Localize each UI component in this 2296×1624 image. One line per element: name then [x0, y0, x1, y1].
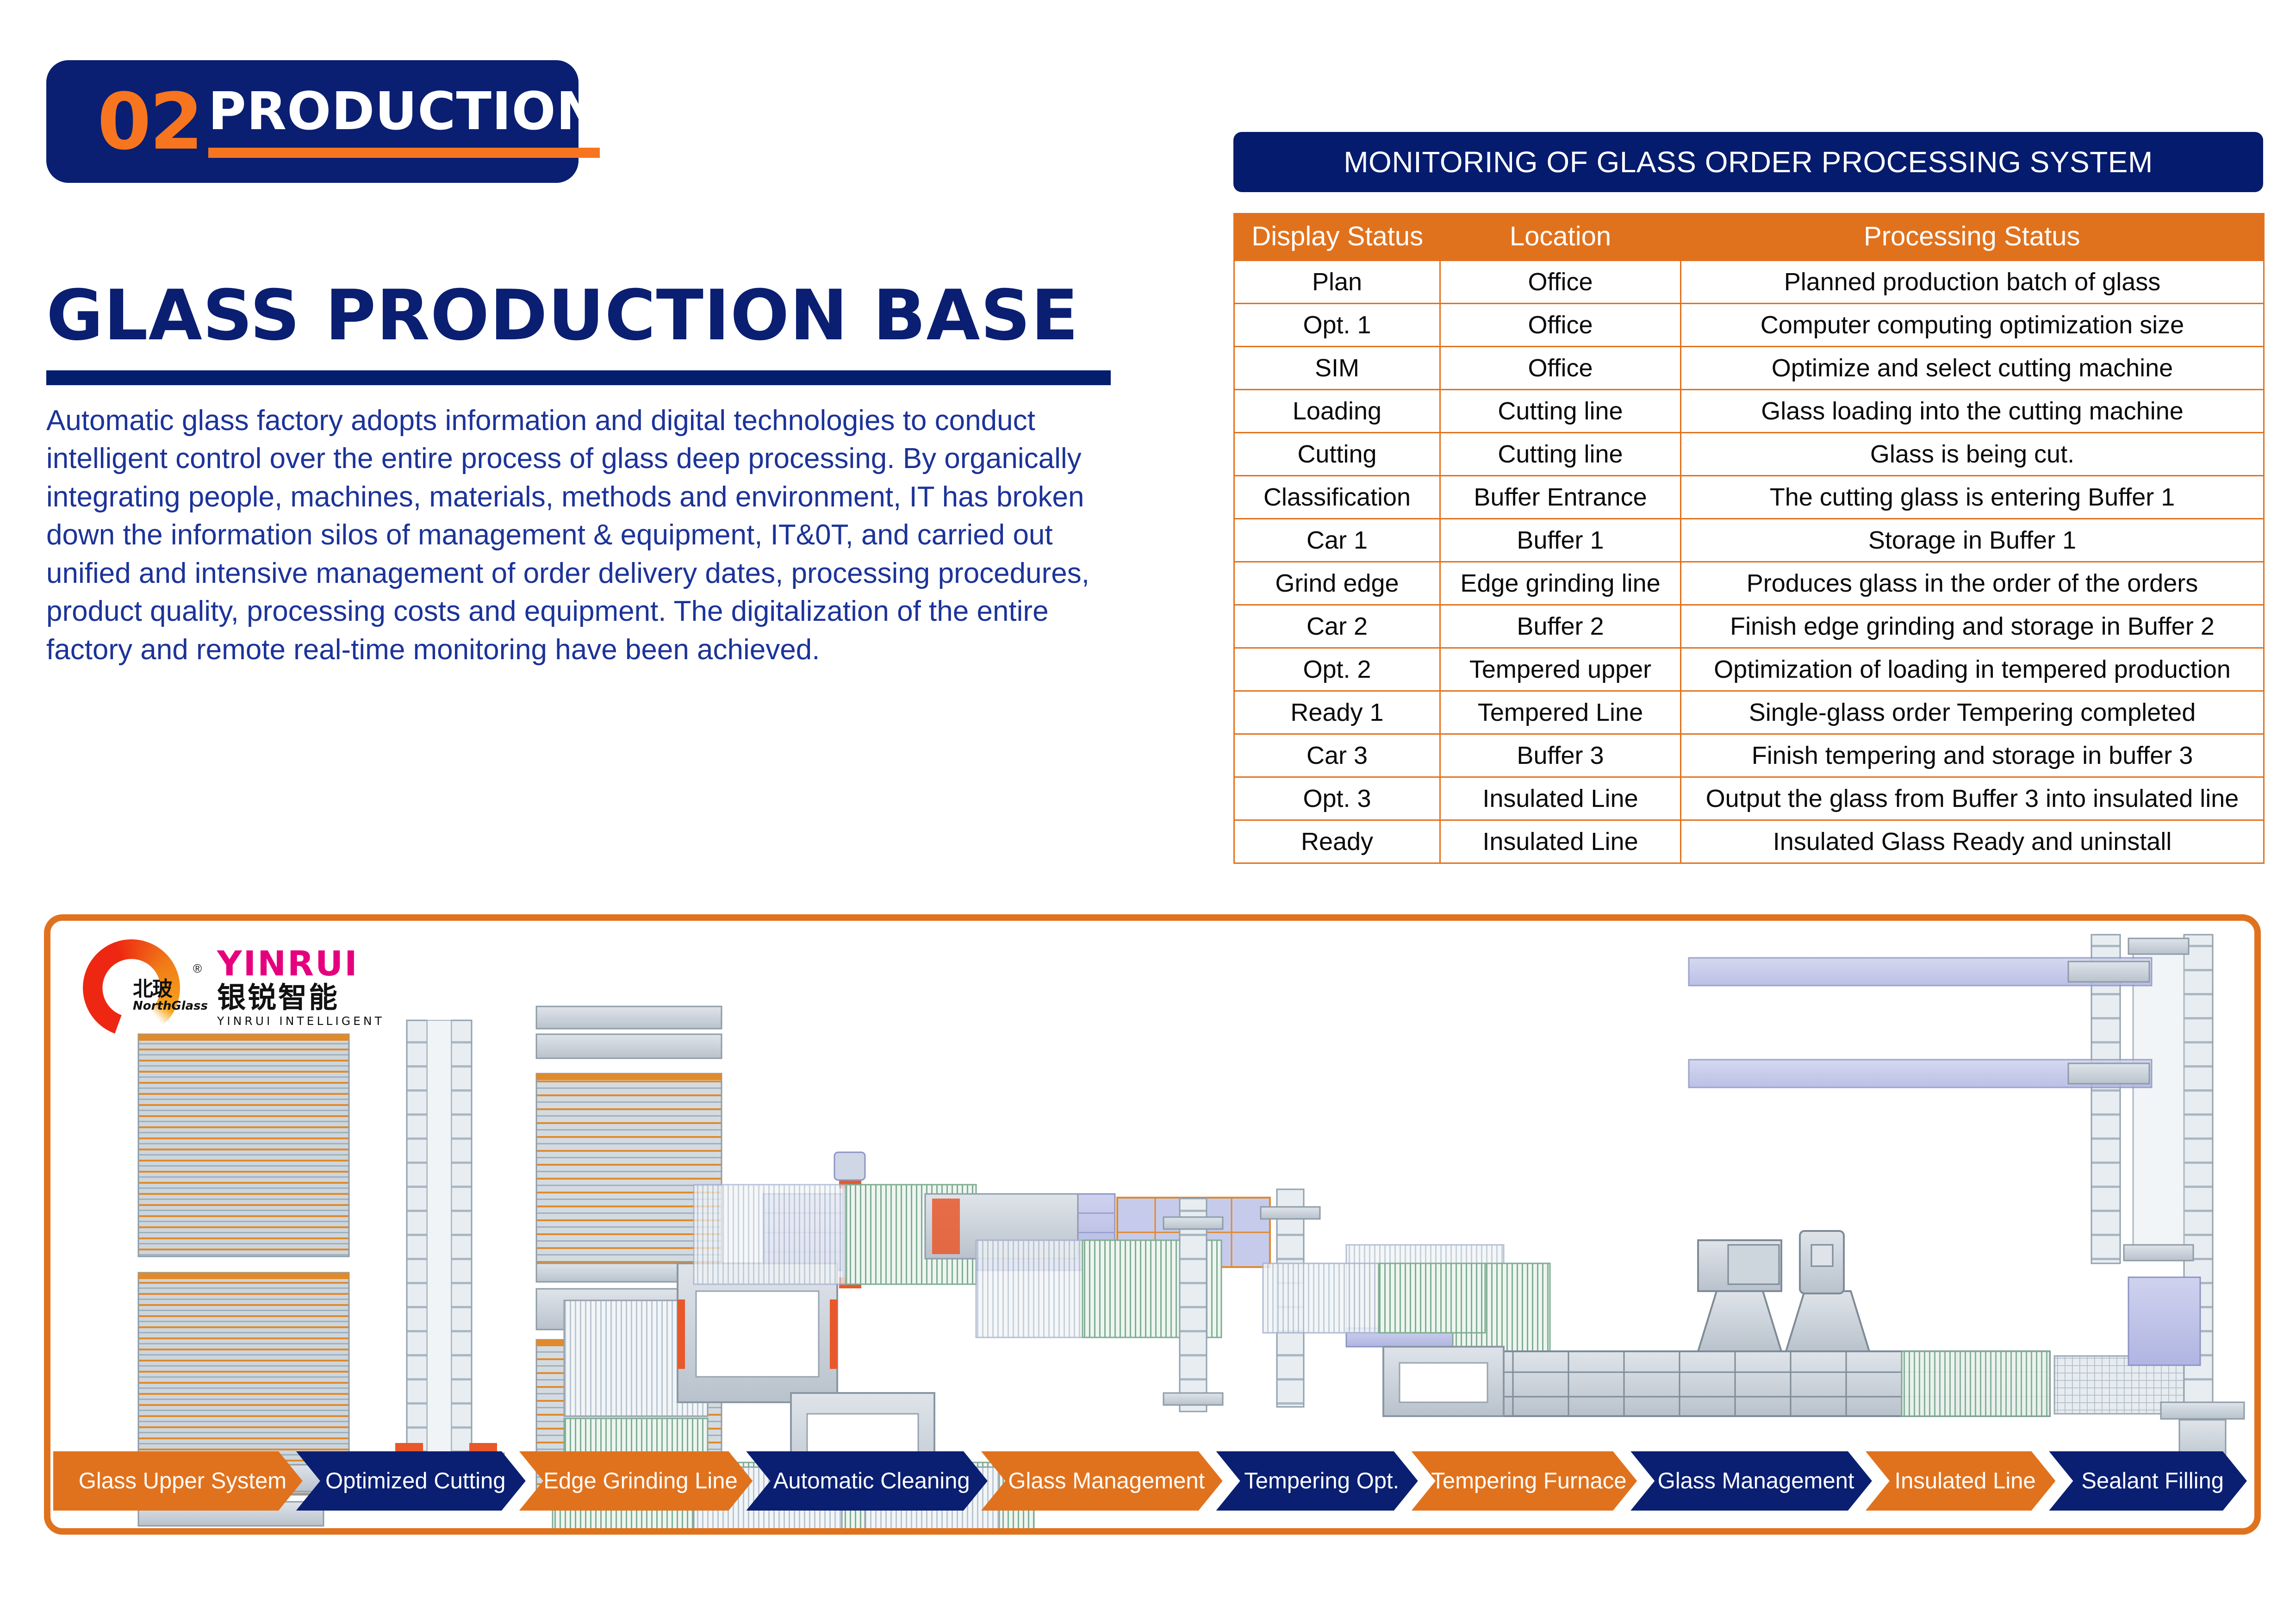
table-row: Car 3Buffer 3Finish tempering and storag…: [1234, 734, 2264, 777]
cell-processing: Storage in Buffer 1: [1681, 518, 2264, 562]
cell-status: Grind edge: [1234, 562, 1440, 605]
cell-location: Cutting line: [1440, 432, 1681, 475]
table-row: PlanOfficePlanned production batch of gl…: [1234, 260, 2264, 303]
flow-step-glass-management-1[interactable]: Glass Management: [981, 1451, 1223, 1511]
table-row: Opt. 2Tempered upperOptimization of load…: [1234, 648, 2264, 691]
cell-status: Ready 1: [1234, 691, 1440, 734]
flow-step-label: Sealant Filling: [2072, 1468, 2224, 1494]
cell-processing: Optimize and select cutting machine: [1681, 346, 2264, 389]
cell-status: Opt. 2: [1234, 648, 1440, 691]
cell-processing: Planned production batch of glass: [1681, 260, 2264, 303]
body-paragraph: Automatic glass factory adopts informati…: [46, 402, 1095, 669]
cell-processing: Optimization of loading in tempered prod…: [1681, 648, 2264, 691]
factory-layout-schematic: [50, 921, 2254, 1528]
table-row: Opt. 1OfficeComputer computing optimizat…: [1234, 303, 2264, 346]
flow-step-glass-management-2[interactable]: Glass Management: [1630, 1451, 1872, 1511]
cell-status: Plan: [1234, 260, 1440, 303]
page-title: GLASS PRODUCTION BASE: [46, 275, 1079, 356]
table-row: Grind edgeEdge grinding lineProduces gla…: [1234, 562, 2264, 605]
monitoring-header: MONITORING OF GLASS ORDER PROCESSING SYS…: [1233, 132, 2263, 192]
cell-location: Tempered Line: [1440, 691, 1681, 734]
cell-status: Ready: [1234, 820, 1440, 863]
flow-step-glass-upper-system[interactable]: Glass Upper System: [53, 1451, 303, 1511]
cell-status: Opt. 1: [1234, 303, 1440, 346]
process-flow: Glass Upper System Optimized Cutting Edg…: [53, 1451, 2247, 1512]
section-word: PRODUCTION: [208, 85, 600, 138]
cell-status: SIM: [1234, 346, 1440, 389]
section-badge-text: PRODUCTION: [208, 85, 600, 157]
cell-location: Buffer 1: [1440, 518, 1681, 562]
column-header-processing-status: Processing Status: [1681, 213, 2264, 260]
cell-location: Buffer Entrance: [1440, 475, 1681, 518]
table-row: Opt. 3Insulated LineOutput the glass fro…: [1234, 777, 2264, 820]
table-header-row: Display Status Location Processing Statu…: [1234, 213, 2264, 260]
cell-status: Opt. 3: [1234, 777, 1440, 820]
monitoring-header-label: MONITORING OF GLASS ORDER PROCESSING SYS…: [1344, 145, 2153, 179]
flow-step-tempering-furnace[interactable]: Tempering Furnace: [1412, 1451, 1637, 1511]
cell-processing: Output the glass from Buffer 3 into insu…: [1681, 777, 2264, 820]
table-row: ReadyInsulated LineInsulated Glass Ready…: [1234, 820, 2264, 863]
monitoring-table: Display Status Location Processing Statu…: [1233, 213, 2265, 864]
cell-status: Cutting: [1234, 432, 1440, 475]
cell-status: Car 2: [1234, 605, 1440, 648]
cell-location: Office: [1440, 260, 1681, 303]
flow-step-label: Edge Grinding Line: [534, 1468, 738, 1494]
factory-layout-panel: 北玻 NorthGlass ® YINRUI 银锐智能 YINRUI INTEL…: [44, 914, 2261, 1535]
cell-status: Car 3: [1234, 734, 1440, 777]
flow-step-edge-grinding-line[interactable]: Edge Grinding Line: [519, 1451, 753, 1511]
flow-step-optimized-cutting[interactable]: Optimized Cutting: [296, 1451, 526, 1511]
flow-step-insulated-line[interactable]: Insulated Line: [1866, 1451, 2055, 1511]
cell-location: Tempered upper: [1440, 648, 1681, 691]
flow-step-label: Tempering Furnace: [1422, 1468, 1626, 1494]
column-header-display-status: Display Status: [1234, 213, 1440, 260]
section-number: 02: [97, 83, 202, 161]
cell-processing: Glass loading into the cutting machine: [1681, 389, 2264, 432]
slide-root: 02 PRODUCTION GLASS PRODUCTION BASE Auto…: [0, 0, 2296, 1624]
cell-processing: The cutting glass is entering Buffer 1: [1681, 475, 2264, 518]
cell-location: Insulated Line: [1440, 777, 1681, 820]
flow-step-tempering-opt[interactable]: Tempering Opt.: [1216, 1451, 1418, 1511]
table-row: Ready 1Tempered LineSingle-glass order T…: [1234, 691, 2264, 734]
flow-step-label: Optimized Cutting: [316, 1468, 505, 1494]
flow-step-automatic-cleaning[interactable]: Automatic Cleaning: [746, 1451, 988, 1511]
cell-processing: Insulated Glass Ready and uninstall: [1681, 820, 2264, 863]
cell-location: Cutting line: [1440, 389, 1681, 432]
cell-processing: Produces glass in the order of the order…: [1681, 562, 2264, 605]
cell-processing: Finish tempering and storage in buffer 3: [1681, 734, 2264, 777]
flow-step-label: Automatic Cleaning: [764, 1468, 970, 1494]
cell-status: Loading: [1234, 389, 1440, 432]
cell-location: Edge grinding line: [1440, 562, 1681, 605]
table-row: SIMOfficeOptimize and select cutting mac…: [1234, 346, 2264, 389]
cell-status: Car 1: [1234, 518, 1440, 562]
cell-location: Office: [1440, 346, 1681, 389]
title-divider: [46, 370, 1111, 385]
badge-underline: [208, 148, 600, 158]
cell-processing: Glass is being cut.: [1681, 432, 2264, 475]
flow-step-label: Glass Management: [999, 1468, 1205, 1494]
flow-step-label: Glass Upper System: [69, 1468, 286, 1494]
table-row: Car 2Buffer 2Finish edge grinding and st…: [1234, 605, 2264, 648]
flow-step-label: Tempering Opt.: [1235, 1468, 1399, 1494]
column-header-location: Location: [1440, 213, 1681, 260]
cell-processing: Computer computing optimization size: [1681, 303, 2264, 346]
cell-location: Insulated Line: [1440, 820, 1681, 863]
flow-step-label: Glass Management: [1649, 1468, 1854, 1494]
cell-processing: Finish edge grinding and storage in Buff…: [1681, 605, 2264, 648]
table-row: ClassificationBuffer EntranceThe cutting…: [1234, 475, 2264, 518]
section-badge: 02 PRODUCTION: [46, 60, 579, 183]
flow-step-label: Insulated Line: [1885, 1468, 2036, 1494]
cell-status: Classification: [1234, 475, 1440, 518]
cell-processing: Single-glass order Tempering completed: [1681, 691, 2264, 734]
cell-location: Buffer 3: [1440, 734, 1681, 777]
cell-location: Buffer 2: [1440, 605, 1681, 648]
table-row: CuttingCutting lineGlass is being cut.: [1234, 432, 2264, 475]
flow-step-sealant-filling[interactable]: Sealant Filling: [2049, 1451, 2247, 1511]
table-row: Car 1Buffer 1Storage in Buffer 1: [1234, 518, 2264, 562]
cell-location: Office: [1440, 303, 1681, 346]
table-row: LoadingCutting lineGlass loading into th…: [1234, 389, 2264, 432]
